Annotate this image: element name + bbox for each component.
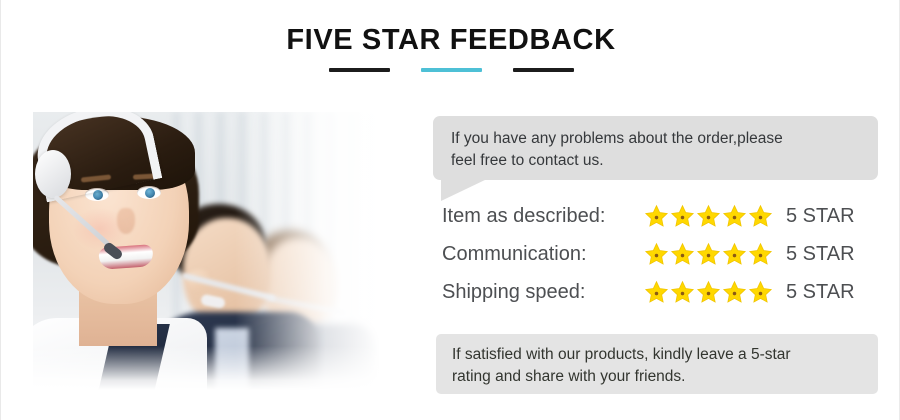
star-icon xyxy=(670,204,695,229)
star-icon xyxy=(722,242,747,267)
rating-row: Communication: 5 STAR xyxy=(442,235,882,273)
star-icon xyxy=(748,242,773,267)
agent-one-right-iris xyxy=(145,188,155,198)
customer-service-photo xyxy=(33,112,381,390)
feedback-banner: FIVE STAR FEEDBACK xyxy=(0,0,900,420)
divider-left xyxy=(329,68,390,72)
satisfaction-note-line-1: If satisfied with our products, kindly l… xyxy=(452,344,862,366)
rating-value-item-as-described: 5 STAR xyxy=(786,205,855,228)
rating-stars-shipping-speed xyxy=(644,280,786,305)
page-title: FIVE STAR FEEDBACK xyxy=(1,24,900,57)
star-icon xyxy=(722,280,747,305)
rating-row: Item as described: 5 STAR xyxy=(442,197,882,235)
photo-bottom-fade xyxy=(33,346,381,390)
rating-label-communication: Communication: xyxy=(442,243,644,266)
ratings-list: Item as described: 5 STAR Communication:… xyxy=(442,197,882,311)
rating-stars-item-as-described xyxy=(644,204,786,229)
rating-value-shipping-speed: 5 STAR xyxy=(786,281,855,304)
satisfaction-note-line-2: rating and share with your friends. xyxy=(452,366,862,388)
star-icon xyxy=(748,204,773,229)
rating-label-item-as-described: Item as described: xyxy=(442,205,644,228)
agent-one-headset-earcup xyxy=(35,150,71,198)
star-icon xyxy=(670,242,695,267)
agent-one-nose xyxy=(117,208,135,234)
rating-label-shipping-speed: Shipping speed: xyxy=(442,281,644,304)
star-icon xyxy=(722,204,747,229)
star-icon xyxy=(644,242,669,267)
rating-row: Shipping speed: 5 STAR xyxy=(442,273,882,311)
star-icon xyxy=(644,280,669,305)
divider-right xyxy=(513,68,574,72)
title-divider-group xyxy=(1,68,900,72)
star-icon xyxy=(748,280,773,305)
star-icon xyxy=(644,204,669,229)
divider-center xyxy=(421,68,482,72)
star-icon xyxy=(696,204,721,229)
rating-value-communication: 5 STAR xyxy=(786,243,855,266)
contact-message-bubble: If you have any problems about the order… xyxy=(433,116,878,180)
rating-stars-communication xyxy=(644,242,786,267)
star-icon xyxy=(696,242,721,267)
star-icon xyxy=(696,280,721,305)
satisfaction-note: If satisfied with our products, kindly l… xyxy=(436,334,878,394)
contact-message-line-1: If you have any problems about the order… xyxy=(451,128,860,150)
star-icon xyxy=(670,280,695,305)
contact-message-line-2: feel free to contact us. xyxy=(451,150,860,172)
